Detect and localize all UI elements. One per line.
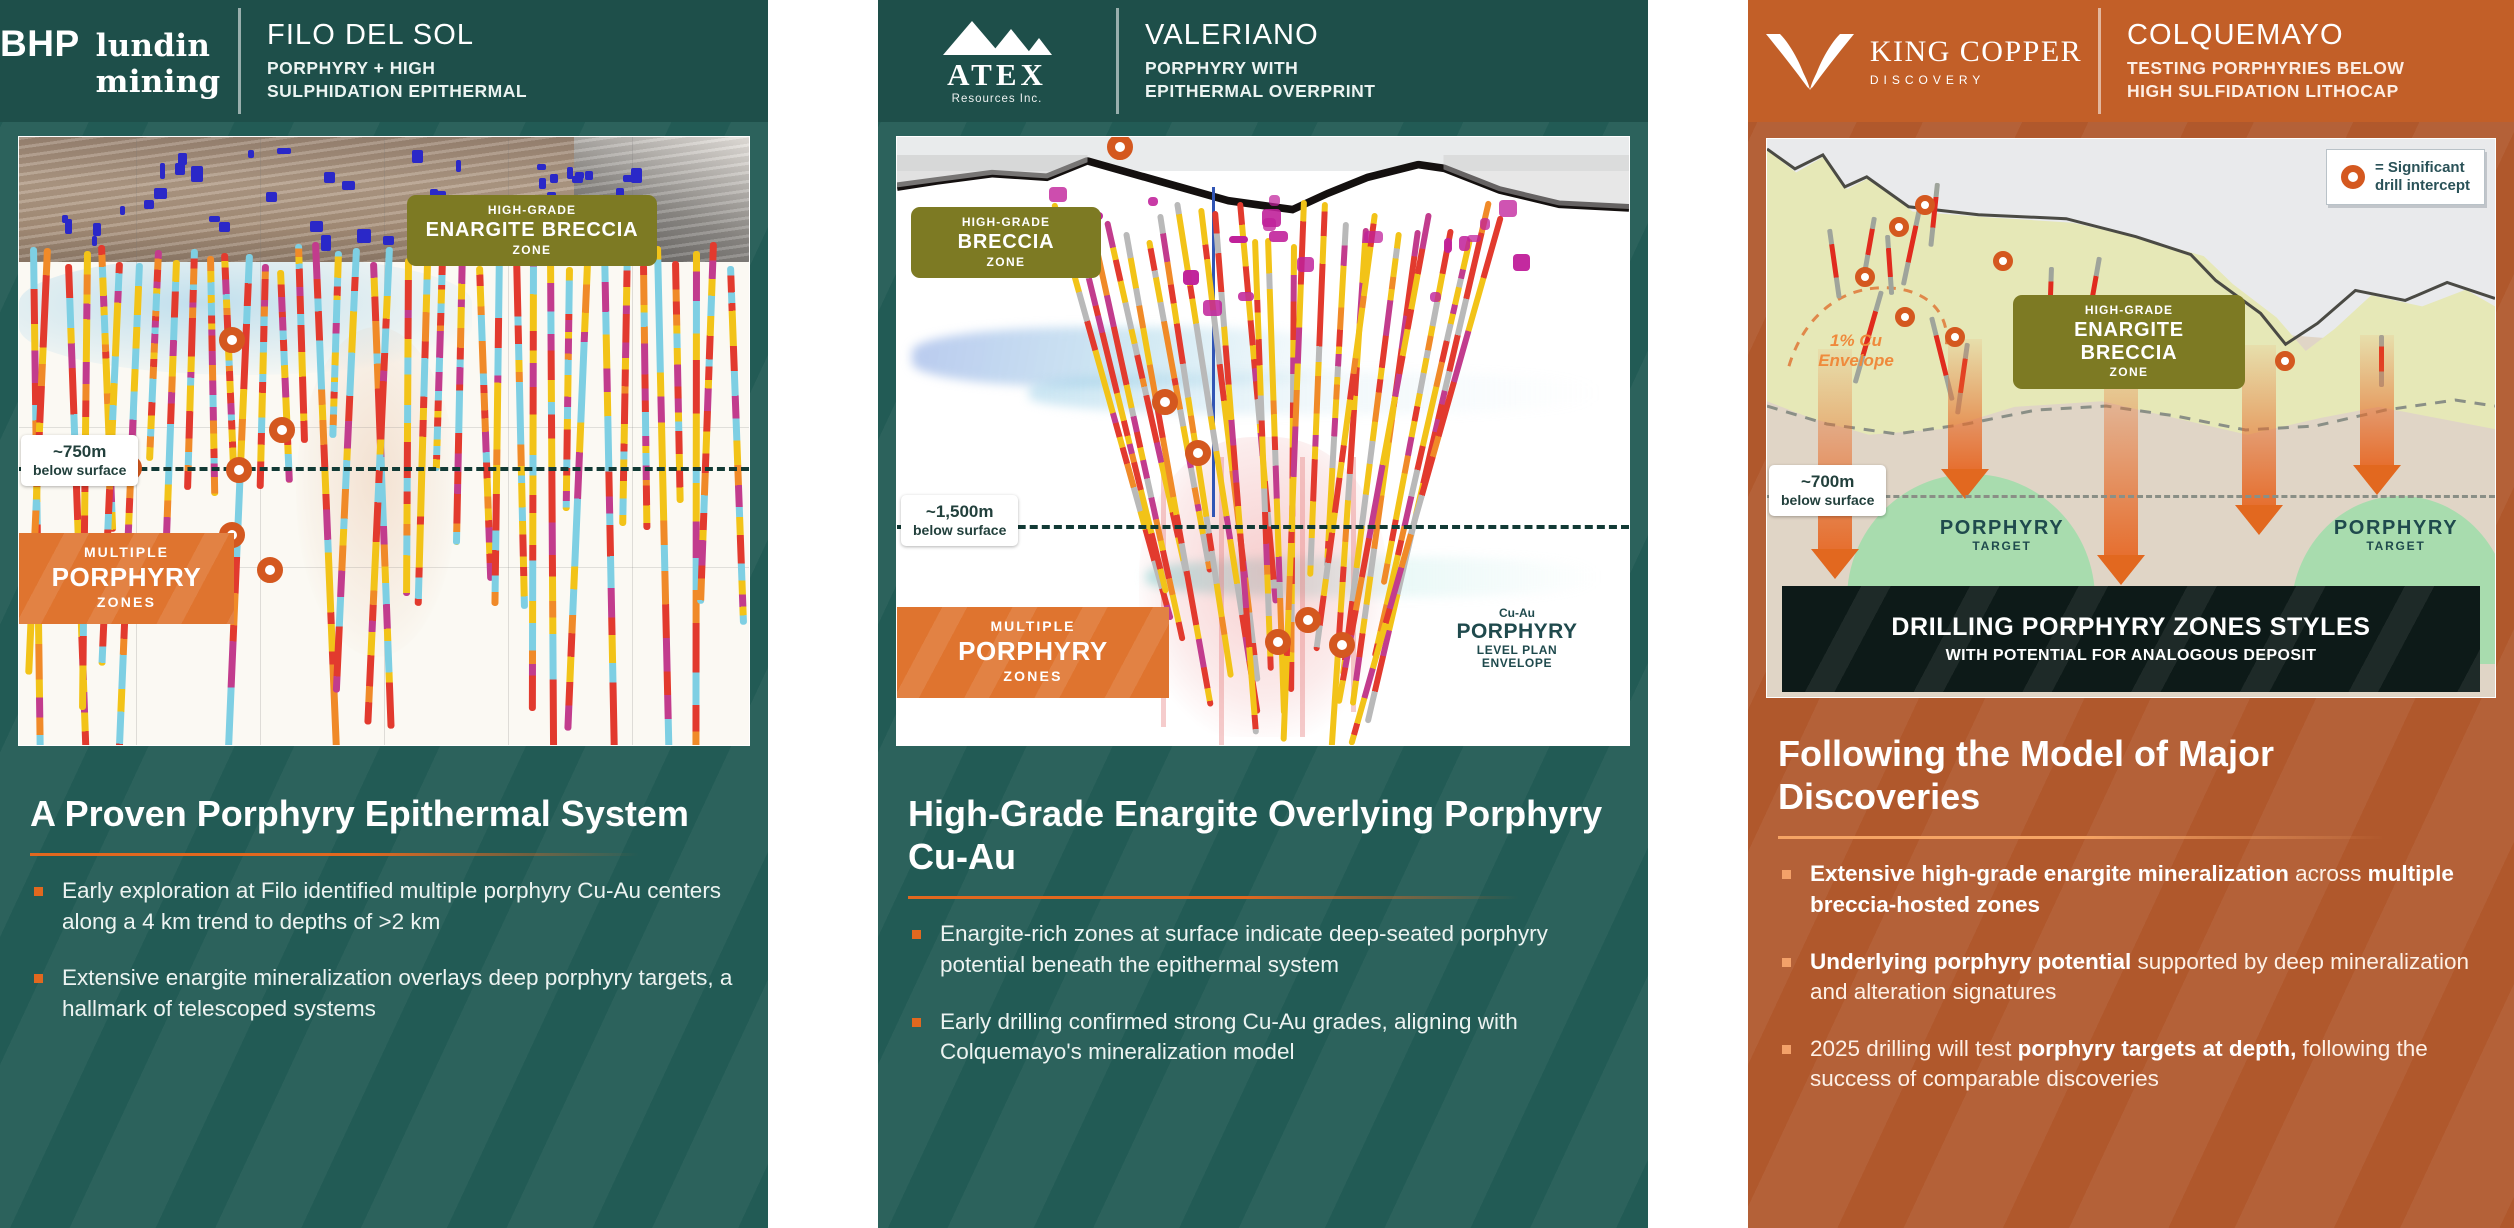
enargite-surface-bleb xyxy=(1297,257,1315,272)
drill-hole xyxy=(693,251,701,746)
three-panel-comparison-board: BHP lundin mining FILO DEL SOL PORPHYRY … xyxy=(0,0,2514,1228)
porphyry-target-label-left: PORPHYRY TARGET xyxy=(1917,517,2087,554)
list-item: Extensive high-grade enargite mineraliza… xyxy=(1778,859,2484,920)
surface-sample-dot xyxy=(412,150,422,164)
header-text-filo: FILO DEL SOL PORPHYRY + HIGH SULPHIDATIO… xyxy=(241,0,768,122)
atex-mountain-icon xyxy=(938,17,1056,57)
list-item: Extensive enargite mineralization overla… xyxy=(30,963,738,1024)
project-subtitle-line2: SULPHIDATION EPITHERMAL xyxy=(267,80,768,103)
surface-sample-dot xyxy=(209,216,220,222)
list-item: Early exploration at Filo identified mul… xyxy=(30,876,738,937)
depth-marker-chip: ~1,500m below surface xyxy=(901,495,1018,546)
drill-hole xyxy=(529,252,537,711)
surface-sample-dot xyxy=(248,150,255,158)
list-item: 2025 drilling will test porphyry targets… xyxy=(1778,1034,2484,1095)
surface-sample-dot xyxy=(572,176,583,183)
enargite-surface-bleb xyxy=(1499,200,1517,217)
panel-body-valeriano: High-Grade Enargite Overlying Porphyry C… xyxy=(878,746,1648,1068)
panel-header-colquemayo: KING COPPER DISCOVERY COLQUEMAYO TESTING… xyxy=(1748,0,2514,122)
header-text-colquemayo: COLQUEMAYO TESTING PORPHYRIES BELOW HIGH… xyxy=(2101,0,2514,122)
enargite-surface-bleb xyxy=(1229,236,1248,243)
project-subtitle-line2: HIGH SULFIDATION LITHOCAP xyxy=(2127,80,2514,103)
king-copper-wings-icon xyxy=(1764,30,1856,92)
surface-sample-dot xyxy=(537,164,546,171)
surface-sample-dot xyxy=(219,222,229,232)
logo-bhp-lundin: BHP lundin mining xyxy=(0,0,238,122)
cross-section-figure-filo: HIGH-GRADE ENARGITE BRECCIA ZONE ~750m b… xyxy=(18,136,750,746)
significant-intercept-legend: = Significant drill intercept xyxy=(2326,149,2485,205)
surface-sample-dot xyxy=(62,215,68,223)
multiple-porphyry-zones-banner: MULTIPLE PORPHYRY ZONES xyxy=(19,533,234,624)
cross-section-figure-valeriano: HIGH-GRADE BRECCIA ZONE ~1,500m below su… xyxy=(896,136,1630,746)
legend-text: = Significant drill intercept xyxy=(2375,159,2470,195)
cu-envelope-label: 1% Cu Envelope xyxy=(1791,331,1921,370)
panel-body-colquemayo: Following the Model of Major Discoveries… xyxy=(1748,698,2514,1095)
surface-sample-dot xyxy=(92,236,97,246)
enargite-surface-bleb xyxy=(1148,197,1159,206)
panel-title: High-Grade Enargite Overlying Porphyry C… xyxy=(908,792,1618,878)
surface-sample-dot xyxy=(154,188,167,200)
surface-sample-dot xyxy=(310,221,323,232)
enargite-surface-bleb xyxy=(1364,231,1383,243)
significant-intercept-marker xyxy=(1855,267,1875,287)
high-grade-breccia-chip: HIGH-GRADE ENARGITE BRECCIA ZONE xyxy=(2013,295,2245,389)
geology-model-figure-colquemayo: = Significant drill intercept 1% Cu Enve… xyxy=(1766,138,2496,698)
list-item: Underlying porphyry potential supported … xyxy=(1778,947,2484,1008)
project-title: VALERIANO xyxy=(1145,20,1648,51)
list-item: Enargite-rich zones at surface indicate … xyxy=(908,919,1618,980)
atex-tagline: Resources Inc. xyxy=(952,94,1043,106)
enargite-surface-bleb xyxy=(1444,238,1453,253)
surface-sample-dot xyxy=(539,178,546,189)
enargite-surface-bleb xyxy=(1203,300,1222,316)
enargite-surface-bleb xyxy=(1049,187,1067,201)
enargite-surface-bleb xyxy=(1238,292,1254,301)
lundin-mining-wordmark: lundin mining xyxy=(96,28,238,100)
panel-title: Following the Model of Major Discoveries xyxy=(1778,732,2484,818)
enargite-surface-bleb xyxy=(1269,231,1287,242)
bullet-list-valeriano: Enargite-rich zones at surface indicate … xyxy=(908,919,1618,1067)
panel-colquemayo: KING COPPER DISCOVERY COLQUEMAYO TESTING… xyxy=(1748,0,2514,1228)
logo-king-copper: KING COPPER DISCOVERY xyxy=(1748,0,2098,122)
surface-sample-dot xyxy=(342,181,355,189)
surface-sample-dot xyxy=(383,236,393,245)
surface-sample-dot xyxy=(277,148,291,155)
surface-sample-dot xyxy=(160,163,166,179)
project-subtitle-line1: TESTING PORPHYRIES BELOW xyxy=(2127,57,2514,80)
panel-gutter-1 xyxy=(768,0,878,1228)
enargite-surface-bleb xyxy=(1262,209,1281,227)
surface-sample-dot xyxy=(321,235,331,250)
intercept-donut-icon xyxy=(2341,165,2365,189)
title-rule xyxy=(908,896,1519,899)
enargite-surface-bleb xyxy=(1513,254,1531,271)
project-subtitle-line1: PORPHYRY + HIGH xyxy=(267,57,768,80)
high-grade-breccia-chip: HIGH-GRADE BRECCIA ZONE xyxy=(911,207,1101,278)
project-title: COLQUEMAYO xyxy=(2127,20,2514,51)
title-rule xyxy=(30,853,639,856)
list-item: Early drilling confirmed strong Cu-Au gr… xyxy=(908,1007,1618,1068)
drilling-styles-banner: DRILLING PORPHYRY ZONES STYLES WITH POTE… xyxy=(1782,586,2481,692)
multiple-porphyry-zones-banner: MULTIPLE PORPHYRY ZONES xyxy=(897,607,1169,698)
high-grade-breccia-chip: HIGH-GRADE ENARGITE BRECCIA ZONE xyxy=(407,195,657,266)
project-subtitle-line1: PORPHYRY WITH xyxy=(1145,57,1648,80)
depth-marker-chip: ~700m below surface xyxy=(1769,465,1886,516)
significant-intercept-marker xyxy=(1889,217,1909,237)
surface-sample-dot xyxy=(93,223,101,236)
bullet-list-colquemayo: Extensive high-grade enargite mineraliza… xyxy=(1778,859,2484,1095)
project-title: FILO DEL SOL xyxy=(267,20,768,51)
panel-body-filo: A Proven Porphyry Epithermal System Earl… xyxy=(0,746,768,1025)
surface-sample-dot xyxy=(357,229,370,243)
enargite-surface-bleb xyxy=(1183,270,1199,285)
enargite-surface-bleb xyxy=(1480,218,1490,230)
significant-intercept-marker xyxy=(1945,327,1965,347)
surface-sample-dot xyxy=(175,163,186,176)
surface-sample-dot xyxy=(120,206,125,215)
porphyry-target-label-right: PORPHYRY TARGET xyxy=(2311,517,2481,554)
enargite-surface-bleb xyxy=(1269,195,1280,206)
significant-intercept-marker xyxy=(1993,251,2013,271)
enargite-surface-bleb xyxy=(1459,236,1470,251)
surface-sample-dot xyxy=(585,171,592,180)
project-subtitle-line2: EPITHERMAL OVERPRINT xyxy=(1145,80,1648,103)
surface-sample-dot xyxy=(266,192,278,202)
king-copper-tagline: DISCOVERY xyxy=(1870,74,2082,86)
bhp-wordmark: BHP xyxy=(0,23,80,65)
panel-valeriano: ATEX Resources Inc. VALERIANO PORPHYRY W… xyxy=(878,0,1648,1228)
surface-sample-dot xyxy=(324,172,334,183)
header-text-valeriano: VALERIANO PORPHYRY WITH EPITHERMAL OVERP… xyxy=(1119,0,1648,122)
logo-atex: ATEX Resources Inc. xyxy=(878,0,1116,122)
panel-header-filo: BHP lundin mining FILO DEL SOL PORPHYRY … xyxy=(0,0,768,122)
enargite-surface-bleb xyxy=(1430,292,1440,302)
surface-sample-dot xyxy=(191,166,202,182)
king-copper-wordmark: KING COPPER xyxy=(1870,37,2082,67)
bullet-list-filo: Early exploration at Filo identified mul… xyxy=(30,876,738,1024)
significant-intercept-marker xyxy=(1895,307,1915,327)
surface-sample-dot xyxy=(456,160,462,172)
surface-sample-dot xyxy=(623,175,635,183)
panel-filo-del-sol: BHP lundin mining FILO DEL SOL PORPHYRY … xyxy=(0,0,768,1228)
atex-wordmark: ATEX xyxy=(947,59,1047,90)
cu-au-porphyry-envelope-label: Cu-Au PORPHYRY LEVEL PLAN ENVELOPE xyxy=(1427,607,1607,671)
surface-sample-dot xyxy=(550,174,558,183)
depth-marker-chip: ~750m below surface xyxy=(21,435,138,486)
title-rule xyxy=(1778,836,2385,839)
significant-intercept-marker xyxy=(1915,195,1935,215)
panel-gutter-2 xyxy=(1648,0,1748,1228)
surface-sample-dot xyxy=(144,200,154,209)
significant-intercept-marker xyxy=(2275,351,2295,371)
panel-header-valeriano: ATEX Resources Inc. VALERIANO PORPHYRY W… xyxy=(878,0,1648,122)
panel-title: A Proven Porphyry Epithermal System xyxy=(30,792,738,835)
